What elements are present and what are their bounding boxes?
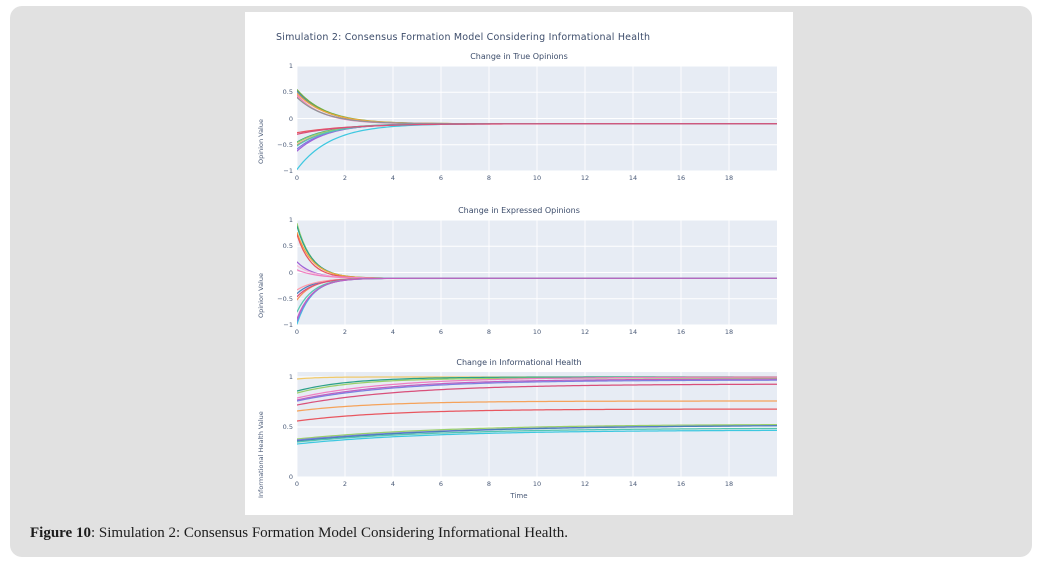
x-tick-label: 14 (621, 174, 645, 182)
figure-title: Simulation 2: Consensus Formation Model … (276, 32, 650, 43)
x-tick-label: 4 (381, 174, 405, 182)
y-axis-label: Opinion Value (257, 119, 265, 164)
x-tick-label: 12 (573, 174, 597, 182)
caption-text: : Simulation 2: Consensus Formation Mode… (91, 525, 568, 541)
subplot-informational-health: Change in Informational HealthInformatio… (245, 358, 793, 511)
x-tick-label: 12 (573, 328, 597, 336)
x-tick-label: 10 (525, 480, 549, 488)
caption-label: Figure 10 (30, 525, 91, 541)
x-tick-label: 14 (621, 328, 645, 336)
x-tick-label: 12 (573, 480, 597, 488)
x-tick-label: 8 (477, 480, 501, 488)
x-tick-label: 0 (285, 328, 309, 336)
x-tick-label: 4 (381, 328, 405, 336)
x-tick-label: 0 (285, 480, 309, 488)
x-tick-label: 16 (669, 328, 693, 336)
y-tick-label: 0.5 (271, 88, 293, 96)
x-tick-label: 4 (381, 480, 405, 488)
y-tick-label: 0.5 (271, 242, 293, 250)
figure-caption: Figure 10: Simulation 2: Consensus Forma… (30, 525, 568, 542)
subplot-expressed-opinions: Change in Expressed OpinionsOpinion Valu… (245, 206, 793, 359)
subplot-true-opinions: Change in True OpinionsOpinion Value10.5… (245, 52, 793, 205)
plot-area (297, 220, 777, 325)
x-tick-label: 0 (285, 174, 309, 182)
x-tick-label: 2 (333, 174, 357, 182)
subplot-title: Change in True Opinions (245, 52, 793, 61)
y-tick-label: 0 (271, 269, 293, 277)
page-root: Simulation 2: Consensus Formation Model … (0, 0, 1040, 571)
plot-area (297, 66, 777, 171)
x-tick-label: 14 (621, 480, 645, 488)
x-tick-label: 6 (429, 328, 453, 336)
subplot-title: Change in Informational Health (245, 358, 793, 367)
y-tick-label: 0.5 (271, 423, 293, 431)
y-tick-label: 1 (271, 373, 293, 381)
x-tick-label: 10 (525, 174, 549, 182)
x-tick-label: 8 (477, 174, 501, 182)
figure-card: Simulation 2: Consensus Formation Model … (245, 12, 793, 515)
x-tick-label: 8 (477, 328, 501, 336)
y-tick-label: −0.5 (271, 141, 293, 149)
x-tick-label: 2 (333, 328, 357, 336)
x-tick-label: 10 (525, 328, 549, 336)
x-tick-label: 2 (333, 480, 357, 488)
x-tick-label: 16 (669, 174, 693, 182)
subplot-title: Change in Expressed Opinions (245, 206, 793, 215)
x-axis-label: Time (245, 492, 793, 500)
y-tick-label: 1 (271, 62, 293, 70)
y-tick-label: −0.5 (271, 295, 293, 303)
plot-area (297, 372, 777, 477)
y-axis-label: Opinion Value (257, 273, 265, 318)
x-tick-label: 18 (717, 174, 741, 182)
x-tick-label: 6 (429, 480, 453, 488)
y-tick-label: 1 (271, 216, 293, 224)
y-axis-label: Informational Health Value (257, 411, 265, 498)
x-tick-label: 16 (669, 480, 693, 488)
gridlines (297, 66, 777, 171)
x-tick-label: 6 (429, 174, 453, 182)
x-tick-label: 18 (717, 328, 741, 336)
y-tick-label: 0 (271, 115, 293, 123)
x-tick-label: 18 (717, 480, 741, 488)
gridlines (297, 220, 777, 325)
